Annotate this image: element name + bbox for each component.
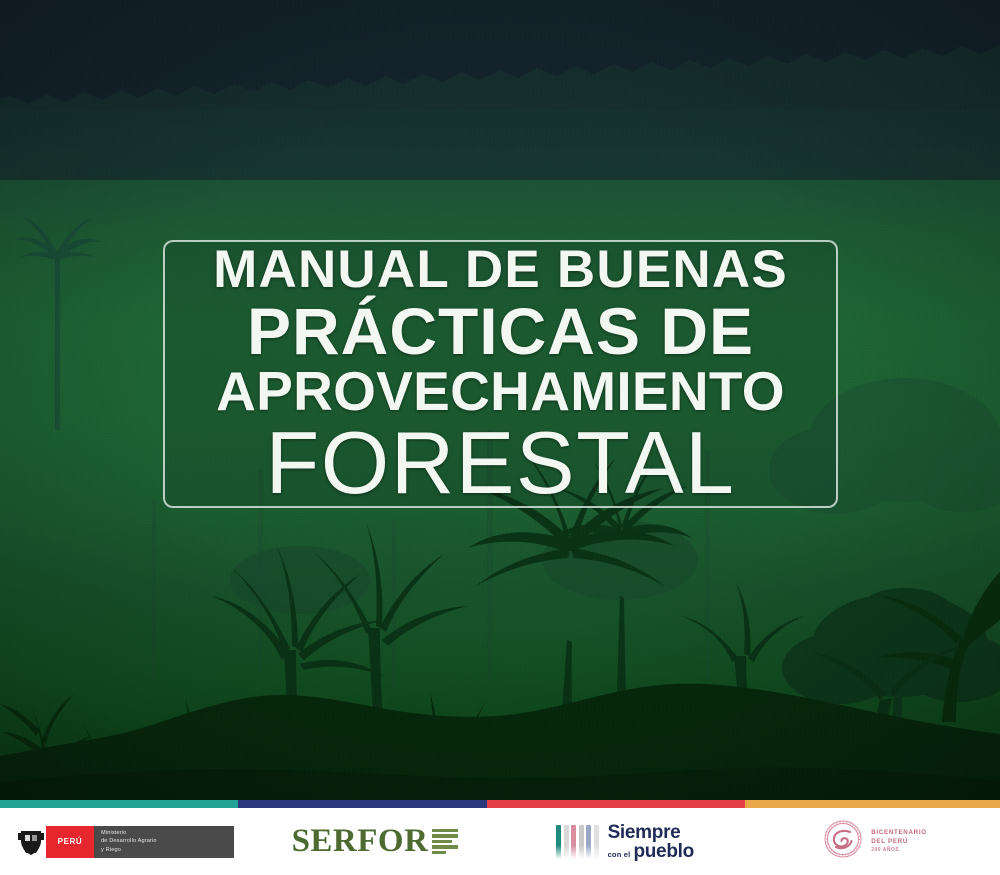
cover-page: MANUAL DE BUENAS PRÁCTICAS DE APROVECHAM… xyxy=(0,0,1000,875)
bicentenario-line-3: 200 AÑOS xyxy=(871,847,927,854)
title-line-4: FORESTAL xyxy=(265,419,735,507)
ministry-name-panel: Ministerio de Desarrollo Agrario y Riego xyxy=(94,826,234,858)
siempre-sub-bold: pueblo xyxy=(633,842,693,861)
serfor-stripes-icon xyxy=(432,829,458,855)
ministry-line-1: Ministerio xyxy=(101,829,234,838)
columns-icon xyxy=(556,825,599,859)
color-segment-red xyxy=(487,800,745,808)
brand-color-bar xyxy=(0,800,1000,808)
ministry-line-3: y Riego xyxy=(101,846,234,855)
bicentenario-seal-icon xyxy=(823,819,863,864)
color-segment-navy xyxy=(238,800,487,808)
siempre-sub-small: con el xyxy=(608,851,631,859)
bicentenario-line-2: DEL PERÚ xyxy=(871,838,927,847)
peru-label: PERÚ xyxy=(58,837,83,846)
logo-serfor: SERFOR xyxy=(250,808,500,875)
peru-shield-icon xyxy=(16,826,46,858)
logo-bicentenario: BICENTENARIO DEL PERÚ 200 AÑOS xyxy=(750,808,1000,875)
color-segment-orange xyxy=(745,800,1000,808)
footer-logo-bar: PERÚ Ministerio de Desarrollo Agrario y … xyxy=(0,808,1000,875)
color-segment-teal xyxy=(0,800,238,808)
cover-artwork: MANUAL DE BUENAS PRÁCTICAS DE APROVECHAM… xyxy=(0,0,1000,800)
logo-minagri: PERÚ Ministerio de Desarrollo Agrario y … xyxy=(0,808,250,875)
title-line-2: PRÁCTICAS DE xyxy=(247,298,754,364)
peru-wordmark: PERÚ xyxy=(46,826,94,858)
title-line-1: MANUAL DE BUENAS xyxy=(213,243,788,296)
title-line-3: APROVECHAMIENTO xyxy=(216,364,785,419)
bicentenario-line-1: BICENTENARIO xyxy=(871,829,927,838)
title-plaque: MANUAL DE BUENAS PRÁCTICAS DE APROVECHAM… xyxy=(163,240,838,508)
serfor-wordmark: SERFOR xyxy=(292,823,429,860)
logo-siempre-con-el-pueblo: Siempre con el pueblo xyxy=(500,808,750,875)
ministry-line-2: de Desarrollo Agrario xyxy=(101,837,234,846)
siempre-main-label: Siempre xyxy=(608,823,694,842)
